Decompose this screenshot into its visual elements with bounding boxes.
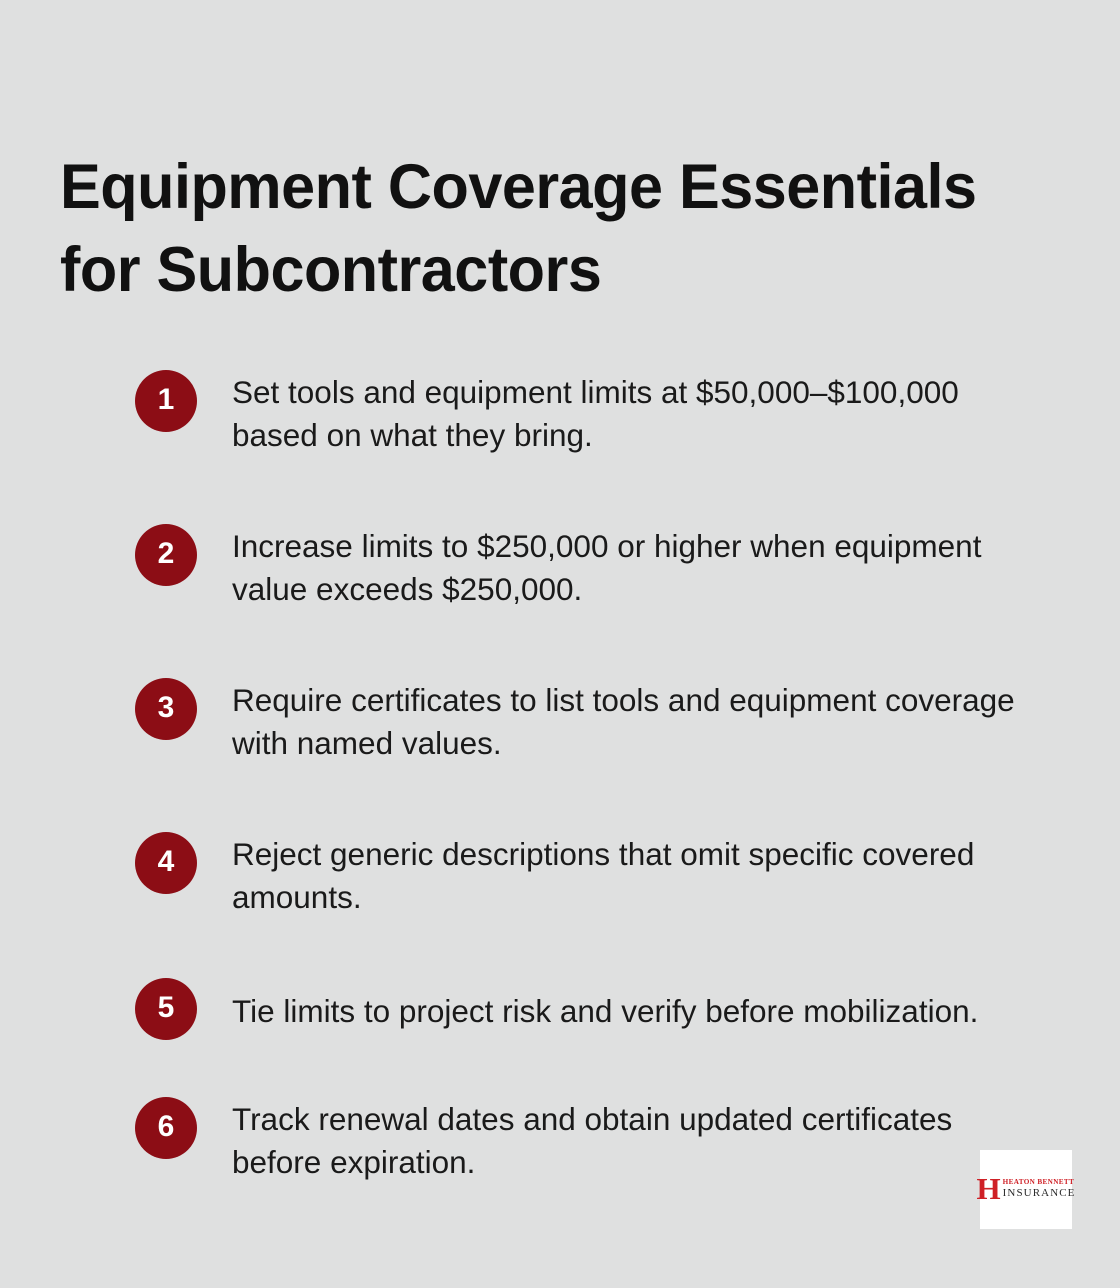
page-title-line-1: Equipment Coverage Essentials [60,152,976,222]
step-number-badge: 1 [135,370,197,432]
list-item: 5 Tie limits to project risk and verify … [135,978,1055,1040]
step-text: Increase limits to $250,000 or higher wh… [232,524,1047,612]
infographic-canvas: Equipment Coverage Essentials for Subcon… [0,0,1120,1288]
step-number-badge: 6 [135,1097,197,1159]
list-item: 4 Reject generic descriptions that omit … [135,832,1055,920]
step-text: Reject generic descriptions that omit sp… [232,832,1047,920]
logo-company-category: INSURANCE [1003,1187,1076,1199]
company-logo: H HEATON BENNETT INSURANCE [980,1150,1072,1229]
list-item: 3 Require certificates to list tools and… [135,678,1055,766]
step-text: Track renewal dates and obtain updated c… [232,1097,1047,1185]
page-title-line-2: for Subcontractors [60,235,601,305]
step-text: Tie limits to project risk and verify be… [232,978,1047,1033]
list-item: 1 Set tools and equipment limits at $50,… [135,370,1055,458]
logo-company-name: HEATON BENNETT [1003,1178,1076,1186]
step-text: Require certificates to list tools and e… [232,678,1047,766]
step-text: Set tools and equipment limits at $50,00… [232,370,1047,458]
steps-list: 1 Set tools and equipment limits at $50,… [135,370,1055,1185]
step-number-badge: 2 [135,524,197,586]
step-number-badge: 5 [135,978,197,1040]
step-number-badge: 4 [135,832,197,894]
logo-monogram-h: H [977,1173,1001,1204]
step-number-badge: 3 [135,678,197,740]
page-title: Equipment Coverage Essentials for Subcon… [60,146,1040,312]
list-item: 2 Increase limits to $250,000 or higher … [135,524,1055,612]
logo-inner: H HEATON BENNETT INSURANCE [977,1173,1076,1204]
logo-wordmark: HEATON BENNETT INSURANCE [1003,1178,1076,1198]
list-item: 6 Track renewal dates and obtain updated… [135,1097,1055,1185]
